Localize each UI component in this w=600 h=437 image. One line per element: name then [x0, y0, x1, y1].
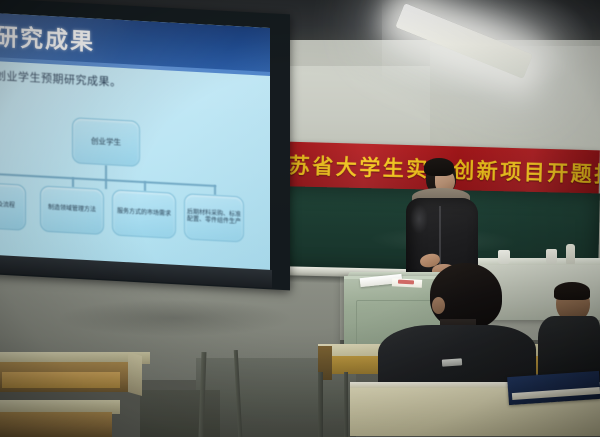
presenter-hair: [424, 158, 454, 176]
diagram-child-node: 后期材料采购、标准配置、零件组件生产: [184, 193, 244, 242]
diagram-child-node: 制造领域管理方法: [40, 186, 104, 235]
classroom-photo-scene: 江苏省大学生实践创新项目开题报告会 期研究成果 自主创业学生预期研究成果。 创业…: [0, 0, 600, 437]
diagram-root-node: 创业学生: [72, 117, 140, 167]
desk-end-panel: [128, 352, 142, 396]
slide-subtitle: 自主创业学生预期研究成果。: [0, 66, 122, 90]
student-jacket-tag: [442, 358, 462, 366]
cup: [546, 249, 557, 264]
desk-leg: [318, 372, 323, 437]
diagram-connector: [105, 165, 107, 189]
projection-screen-icon: 期研究成果 自主创业学生预期研究成果。 创业学生 配件信息及流程 制造领域管理方…: [0, 12, 270, 277]
student-ear: [432, 297, 445, 314]
diagram-child-node: 服务方式的市场需求: [112, 189, 176, 238]
slide-title: 期研究成果: [0, 16, 95, 57]
desk-book-shelf: [2, 372, 120, 388]
seated-person-hair: [554, 282, 590, 300]
presenter-shoulder-highlight: [410, 204, 428, 234]
diagram-child-node: 配件信息及流程: [0, 181, 26, 230]
desk-leg: [344, 372, 348, 437]
bottle: [566, 244, 575, 264]
diagram-connector: [214, 185, 216, 195]
cup: [498, 250, 510, 264]
floor-area: [140, 390, 220, 437]
wall-shadow-stain: [60, 300, 290, 336]
diagram-connector: [0, 173, 216, 187]
diagram-connector: [144, 181, 146, 191]
desk-front-panel: [0, 412, 112, 437]
diagram-connector: [72, 177, 74, 187]
